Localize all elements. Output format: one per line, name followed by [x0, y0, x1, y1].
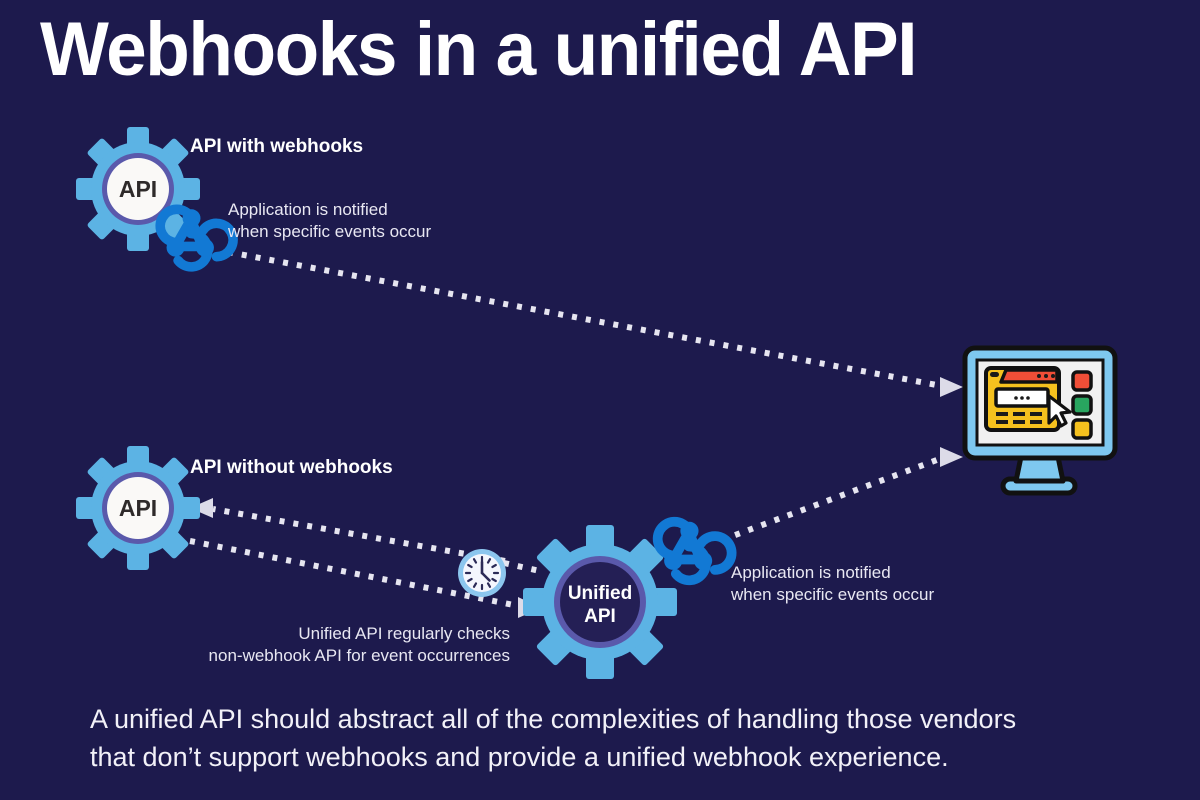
- gear-center: [107, 158, 169, 220]
- api-with-webhooks-gear[interactable]: API: [76, 127, 200, 251]
- unified-api-gear[interactable]: Unified API: [523, 525, 677, 679]
- diagram-artwork: API: [0, 0, 1200, 800]
- gear-body: [91, 461, 185, 555]
- note-unified-notify-line1: Application is notified: [731, 562, 891, 584]
- desktop-monitor-icon[interactable]: [965, 348, 1115, 493]
- connector-legacy-api-to-unified: [190, 541, 541, 618]
- badge-yellow: [1073, 420, 1091, 438]
- cursor-arrow-icon: [1049, 396, 1070, 426]
- webhook-icon-top[interactable]: [160, 209, 233, 267]
- gear-teeth: [76, 446, 200, 570]
- gear-center: [107, 477, 169, 539]
- app-window-frame: [986, 368, 1059, 430]
- unified-api-label-line1: Unified: [568, 583, 632, 604]
- app-window-titlebar: [1001, 370, 1057, 382]
- connector-webhook-to-app: [228, 252, 963, 397]
- gear-body: [91, 142, 185, 236]
- gear-teeth: [523, 525, 677, 679]
- webhook-icon-unified[interactable]: [658, 522, 732, 580]
- gear-label-api: API: [119, 495, 157, 521]
- badge-red: [1073, 372, 1091, 390]
- gear-label-api: API: [119, 176, 157, 202]
- app-input-dots: [1014, 396, 1030, 400]
- connector-unified-to-legacy-api: [190, 498, 505, 561]
- clock-rim: [458, 549, 506, 597]
- connector-unified-to-app: [722, 447, 963, 540]
- gear-body: [542, 544, 658, 660]
- badge-green: [1073, 396, 1091, 414]
- note-unified-notify-line2: when specific events occur: [731, 584, 934, 606]
- monitor-body: [965, 348, 1115, 458]
- app-input-field: [996, 389, 1048, 406]
- arrowhead-to-unified-api: [518, 597, 541, 618]
- label-api-with-webhooks: API with webhooks: [190, 136, 363, 158]
- arrowhead-to-app-bottom: [940, 447, 963, 467]
- note-polling-line1: Unified API regularly checks: [110, 623, 510, 645]
- arrowhead-to-legacy-api: [190, 498, 213, 518]
- clock-face: [463, 554, 501, 592]
- app-window: [986, 368, 1059, 430]
- app-window-titlebar-dots: [1037, 374, 1055, 378]
- api-without-webhooks-gear[interactable]: API: [76, 446, 200, 570]
- gear-ring: [102, 153, 174, 225]
- monitor-screen: [977, 360, 1103, 445]
- monitor-base: [1003, 479, 1075, 493]
- clock-icon[interactable]: [458, 549, 506, 597]
- caption-line-1: A unified API should abstract all of the…: [90, 700, 1130, 738]
- arrowhead-to-app-top: [940, 377, 963, 397]
- gear-ring: [102, 472, 174, 544]
- connector-clock-stub: [504, 563, 540, 571]
- monitor-stand: [1016, 452, 1063, 481]
- caption: A unified API should abstract all of the…: [90, 700, 1130, 777]
- gear-center: [560, 562, 640, 642]
- unified-api-label-line2: API: [584, 606, 616, 627]
- infographic-canvas: Webhooks in a unified API: [0, 0, 1200, 800]
- app-content-lines: [996, 414, 1042, 422]
- note-webhook-notify-line2: when specific events occur: [228, 221, 431, 243]
- note-webhook-notify-line1: Application is notified: [228, 199, 388, 221]
- page-title: Webhooks in a unified API: [40, 12, 1096, 88]
- note-polling-line2: non-webhook API for event occurrences: [110, 645, 510, 667]
- label-api-without-webhooks: API without webhooks: [190, 457, 393, 479]
- app-window-tab: [990, 372, 999, 377]
- clock-ticks: [466, 557, 498, 589]
- clock-hour-hand: [482, 573, 490, 581]
- gear-teeth: [76, 127, 200, 251]
- gear-ring: [554, 556, 646, 648]
- caption-line-2: that don’t support webhooks and provide …: [90, 738, 1130, 776]
